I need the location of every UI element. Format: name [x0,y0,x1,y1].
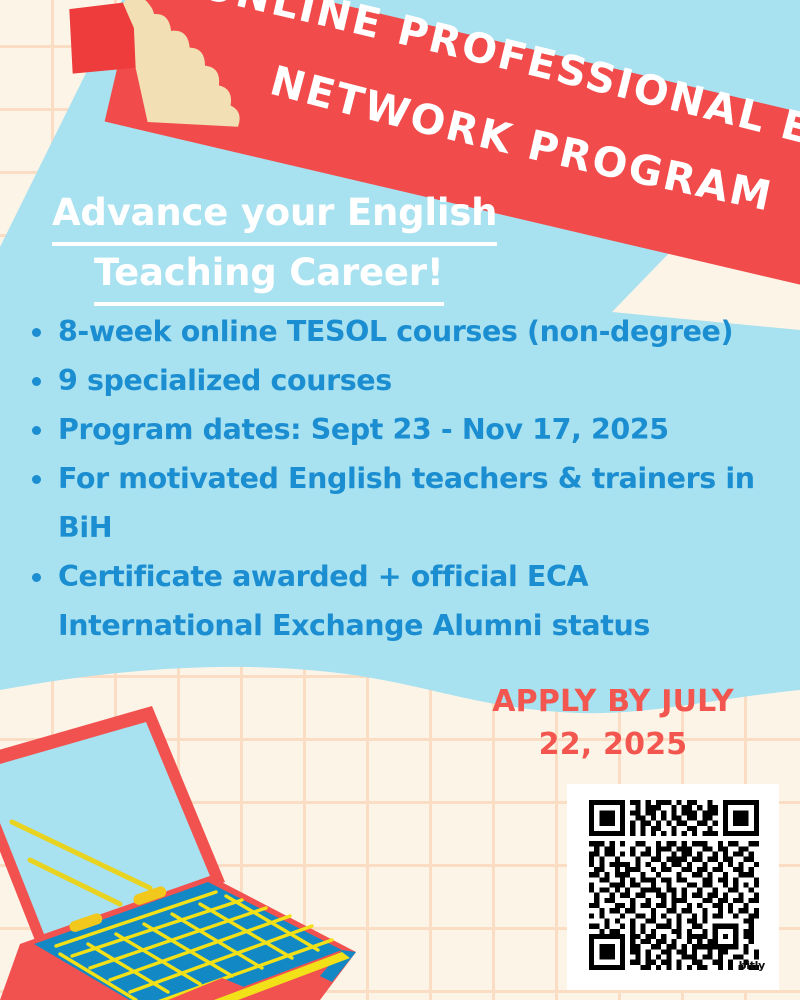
poster-headline: Advance your English Teaching Career! [52,186,572,306]
list-item-label: 8-week online TESOL courses (non-degree) [58,315,733,348]
bullet-dot-icon [32,328,41,337]
laptop-icon [0,700,380,1000]
list-item-label: Certificate awarded + official ECA Inter… [58,560,650,642]
headline-line-1: Advance your English [52,186,572,246]
bullet-dot-icon [32,475,41,484]
bullet-dot-icon [32,426,41,435]
list-item: Program dates: Sept 23 - Nov 17, 2025 [22,405,782,454]
pencil-icon [60,0,390,200]
list-item: 8-week online TESOL courses (non-degree) [22,307,782,356]
list-item: Certificate awarded + official ECA Inter… [22,552,782,650]
qr-code-card[interactable]: bitly [567,784,779,990]
bullet-dot-icon [32,573,41,582]
bullet-dot-icon [32,377,41,386]
qr-brand-label: bitly [739,959,765,972]
program-highlights-list: 8-week online TESOL courses (non-degree)… [22,307,782,650]
apply-deadline-line-1: APPLY BY JULY [448,680,778,723]
headline-line-2: Teaching Career! [52,246,572,306]
qr-code-icon[interactable] [589,800,759,970]
list-item-label: Program dates: Sept 23 - Nov 17, 2025 [58,413,669,446]
apply-deadline-line-2: 22, 2025 [448,723,778,766]
list-item: 9 specialized courses [22,356,782,405]
poster-canvas: ONLINE PROFESSIONAL ENGLISH NETWORK PROG… [0,0,800,1000]
apply-deadline: APPLY BY JULY 22, 2025 [448,680,778,766]
list-item-label: 9 specialized courses [58,364,392,397]
list-item: For motivated English teachers & trainer… [22,454,782,552]
list-item-label: For motivated English teachers & trainer… [58,462,755,544]
